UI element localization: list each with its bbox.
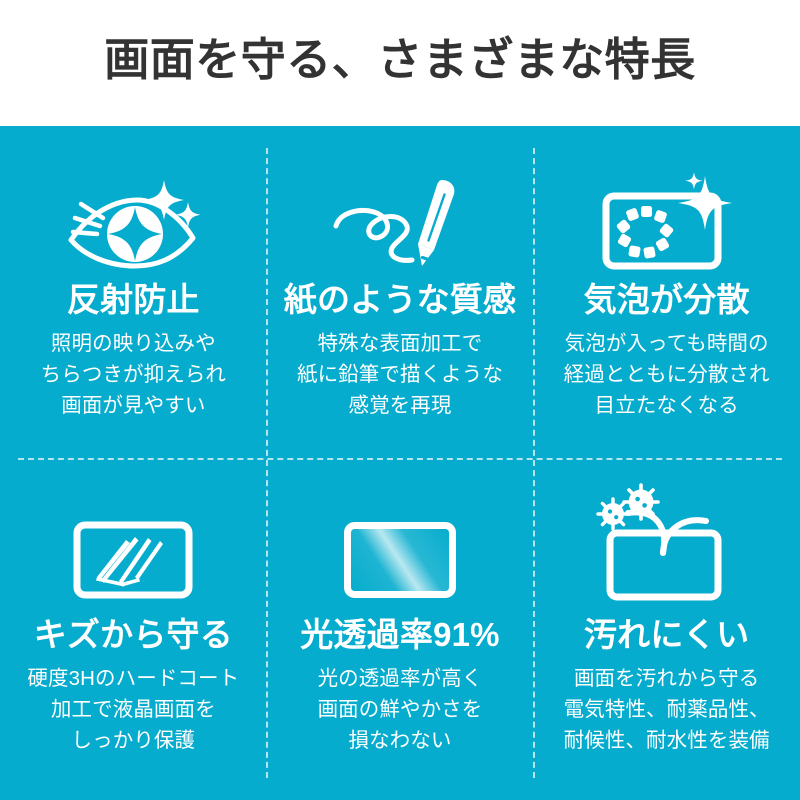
feature-body-line: 光の透過率が高く [318, 663, 483, 694]
feature-body-line: 画面が見やすい [41, 390, 226, 421]
feature-body-line: 硬度3Hのハードコート [27, 663, 239, 694]
feature-grid: 反射防止 照明の映り込みや ちらつきが抑えられ 画面が見やすい [0, 126, 800, 800]
feature-body-line: 電気特性、耐薬品性、 [564, 694, 770, 725]
feature-body-line: 紙に鉛筆で描くような [297, 359, 503, 390]
feature-body: 気泡が入っても時間の 経過とともに分散され 目立たなくなる [564, 328, 770, 421]
feature-cell-light-transmission: 光透過率91% 光の透過率が高く 画面の鮮やかさを 損なわない [267, 463, 534, 800]
feature-cell-dirt-resistant: 汚れにくい 画面を汚れから守る 電気特性、耐薬品性、 耐候性、耐水性を装備 [533, 463, 800, 800]
feature-body: 照明の映り込みや ちらつきが抑えられ 画面が見やすい [41, 328, 226, 421]
screen-light-transmission-icon [330, 491, 470, 603]
feature-cell-scratch-protection: キズから守る 硬度3Hのハードコート 加工で液晶画面を しっかり保護 [0, 463, 267, 800]
screen-scratch-icon [63, 491, 203, 603]
feature-body: 画面を汚れから守る 電気特性、耐薬品性、 耐候性、耐水性を装備 [564, 663, 770, 756]
feature-cell-bubble-dispersion: 気泡が分散 気泡が入っても時間の 経過とともに分散され 目立たなくなる [533, 126, 800, 463]
feature-cell-anti-reflection: 反射防止 照明の映り込みや ちらつきが抑えられ 画面が見やすい [0, 126, 267, 463]
page-title: 画面を守る、さまざまな特長 [104, 35, 696, 85]
eye-sparkle-icon [63, 162, 203, 270]
feature-body: 光の透過率が高く 画面の鮮やかさを 損なわない [318, 663, 483, 756]
feature-title: 反射防止 [67, 282, 200, 319]
feature-title: 気泡が分散 [584, 282, 750, 319]
feature-body: 特殊な表面加工で 紙に鉛筆で描くような 感覚を再現 [297, 328, 503, 421]
pencil-scribble-icon [330, 162, 470, 270]
feature-body-line: 目立たなくなる [564, 390, 770, 421]
screen-germ-repel-icon [592, 491, 742, 603]
feature-title: 紙のような質感 [284, 282, 516, 319]
feature-body-line: 照明の映り込みや [41, 328, 226, 359]
feature-body-line: 画面を汚れから守る [564, 663, 770, 694]
feature-body-line: 特殊な表面加工で [297, 328, 503, 359]
feature-cell-paper-texture: 紙のような質感 特殊な表面加工で 紙に鉛筆で描くような 感覚を再現 [267, 126, 534, 463]
feature-body-line: ちらつきが抑えられ [41, 359, 226, 390]
feature-body-line: 感覚を再現 [297, 390, 503, 421]
infographic-page: 画面を守る、さまざまな特長 [0, 0, 800, 800]
feature-body-line: 耐候性、耐水性を装備 [564, 725, 770, 756]
feature-body: 硬度3Hのハードコート 加工で液晶画面を しっかり保護 [27, 663, 239, 756]
feature-title: 光透過率91% [300, 617, 499, 654]
feature-body-line: 気泡が入っても時間の [564, 328, 770, 359]
feature-body-line: しっかり保護 [27, 725, 239, 756]
page-header: 画面を守る、さまざまな特長 [0, 0, 800, 126]
feature-title: 汚れにくい [584, 617, 749, 654]
feature-body-line: 画面の鮮やかさを [318, 694, 483, 725]
feature-body-line: 加工で液晶画面を [27, 694, 239, 725]
feature-body-line: 損なわない [318, 725, 483, 756]
screen-bubbles-sparkle-icon [597, 162, 737, 270]
feature-body-line: 経過とともに分散され [564, 359, 770, 390]
feature-title: キズから守る [34, 617, 233, 654]
